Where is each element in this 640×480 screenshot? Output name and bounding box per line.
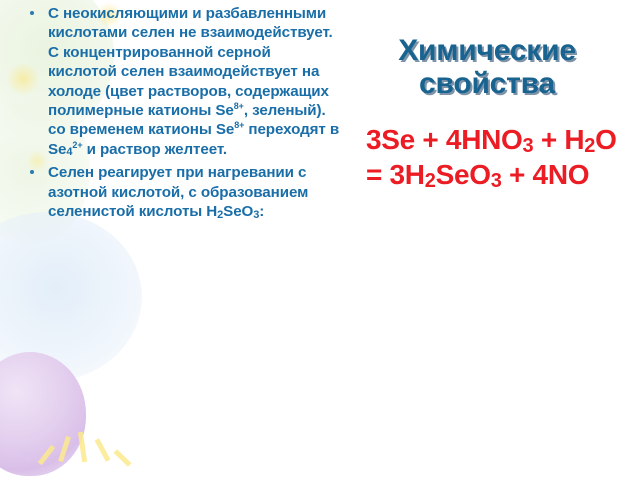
superscript: 8+ <box>234 101 244 111</box>
slide-canvas: С неокисляющими и разбавленными кислотам… <box>0 0 640 480</box>
subscript: 3 <box>523 135 534 157</box>
right-column: Химические свойства 3Se + 4HNO3 + H2O = … <box>352 0 628 194</box>
page-title: Химические свойства <box>352 0 628 100</box>
body-text-column: С неокисляющими и разбавленными кислотам… <box>22 4 340 223</box>
bullet-list: С неокисляющими и разбавленными кислотам… <box>22 4 340 223</box>
subscript: 3 <box>491 170 502 192</box>
subscript: 2 <box>425 170 436 192</box>
slide-content: С неокисляющими и разбавленными кислотам… <box>0 0 640 480</box>
subscript: 2 <box>584 135 595 157</box>
bullet-dot-icon <box>30 170 34 174</box>
superscript: 2+ <box>72 140 82 150</box>
reaction-equation: 3Se + 4HNO3 + H2O = 3H2SeO3 + 4NO <box>352 100 628 194</box>
superscript: 8+ <box>234 120 244 130</box>
list-item: С неокисляющими и разбавленными кислотам… <box>22 4 340 161</box>
bullet-dot-icon <box>30 11 34 15</box>
subscript: 2 <box>217 209 223 221</box>
bullet-nitric-text: Селен реагирует при нагревании с азотной… <box>48 164 308 220</box>
list-item: Селен реагирует при нагревании с азотной… <box>22 163 340 223</box>
bullet-acids-text: С неокисляющими и разбавленными кислотам… <box>48 5 339 158</box>
subscript: 4 <box>66 146 72 158</box>
subscript: 3 <box>253 209 259 221</box>
